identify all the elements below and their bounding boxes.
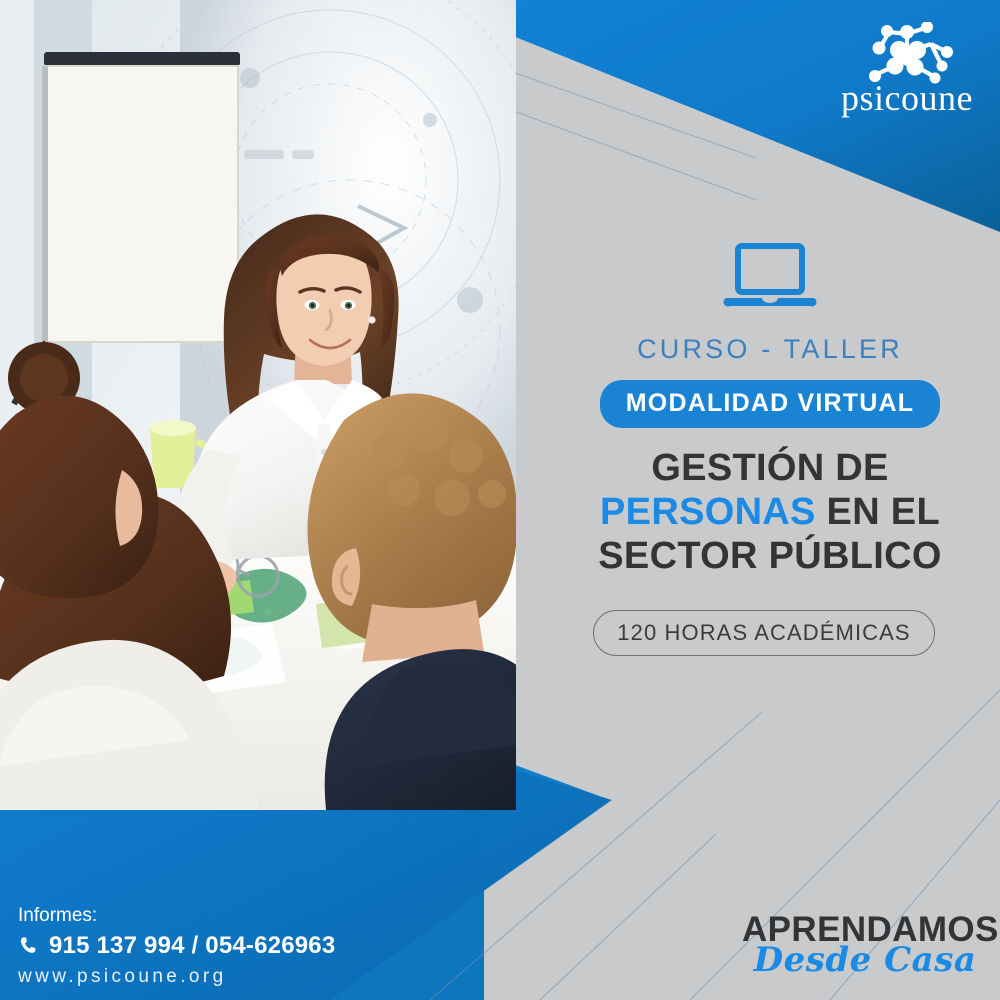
title-highlight: PERSONAS	[600, 491, 816, 533]
title-line-2: PERSONAS EN EL	[560, 490, 980, 534]
colleague-right-figure	[307, 393, 516, 810]
contact-block: Informes: 915 137 994 / 054-626963 www.p…	[18, 905, 348, 988]
poster-canvas: psicoune CURSO - TALLER MODALIDAD VIRTUA…	[0, 0, 1000, 1000]
tagline-line-2: Desde Casa	[742, 943, 988, 977]
course-info-block: CURSO - TALLER MODALIDAD VIRTUAL GESTIÓN…	[560, 240, 980, 578]
kicker-text: CURSO - TALLER	[560, 334, 980, 365]
hours-badge: 120 HORAS ACADÉMICAS	[593, 610, 935, 656]
molecule-icon	[855, 22, 959, 84]
phone-row: 915 137 994 / 054-626963	[18, 932, 348, 960]
phone-icon	[18, 935, 40, 957]
logo-wordmark: psicoune	[832, 80, 982, 116]
website-text: www.psicoune.org	[18, 966, 348, 988]
contact-label: Informes:	[18, 905, 348, 927]
laptop-icon	[722, 240, 818, 312]
title-line-3: SECTOR PÚBLICO	[560, 534, 980, 578]
modality-badge: MODALIDAD VIRTUAL	[600, 380, 940, 428]
phone-numbers: 915 137 994 / 054-626963	[49, 932, 335, 960]
title-line-1: GESTIÓN DE	[560, 446, 980, 490]
page-title: GESTIÓN DE PERSONAS EN EL SECTOR PÚBLICO	[560, 446, 980, 578]
brand-logo: psicoune	[832, 22, 982, 117]
business-meeting-photo	[0, 0, 516, 810]
title-line-2-rest: EN EL	[816, 491, 940, 533]
tagline-block: APRENDAMOS Desde Casa	[742, 912, 988, 977]
